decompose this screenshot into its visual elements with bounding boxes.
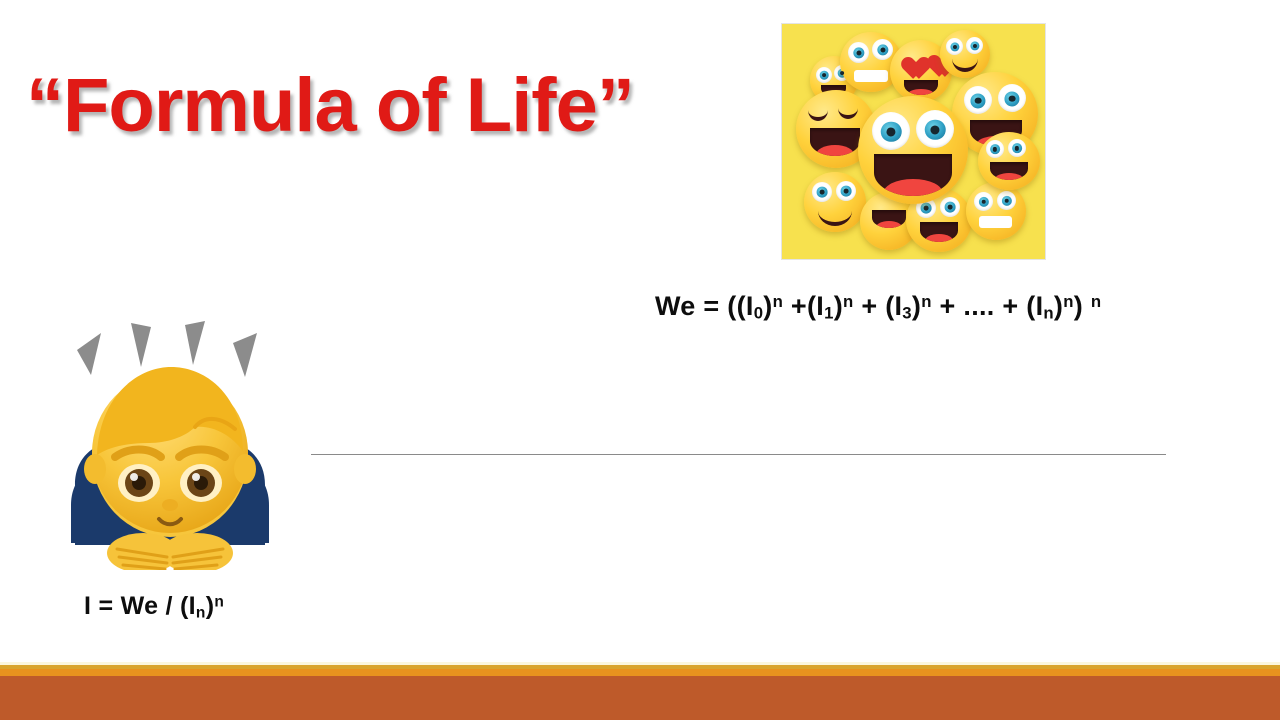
closed-eye-icon bbox=[838, 106, 858, 119]
eye-icon bbox=[812, 182, 832, 202]
eye-icon bbox=[872, 112, 910, 150]
subscript-0: 0 bbox=[754, 304, 764, 323]
formula-we-lhs: We bbox=[655, 291, 696, 321]
term-plus-3: + (I bbox=[854, 291, 903, 321]
superscript-n: n bbox=[214, 594, 224, 611]
heart-eye-icon bbox=[896, 48, 922, 72]
emoji-face bbox=[966, 182, 1026, 240]
eye-icon bbox=[974, 192, 993, 211]
smile-icon bbox=[952, 56, 978, 72]
emoji-face-main bbox=[858, 96, 968, 204]
formula-we: We = ((I0)n +(I1)n + (I3)n + .... + (In)… bbox=[655, 291, 1101, 324]
person-bowing-emoji bbox=[45, 305, 295, 570]
bottom-decoration-bars bbox=[0, 662, 1280, 720]
teeth-icon bbox=[854, 70, 888, 82]
superscript-n: n bbox=[1063, 292, 1074, 311]
subscript-n: n bbox=[196, 604, 206, 621]
mouth-icon bbox=[904, 80, 938, 95]
paren-close: ) bbox=[763, 291, 772, 321]
eye-icon bbox=[946, 38, 963, 55]
mouth-icon bbox=[990, 162, 1028, 180]
term-ellipsis: + .... + (I bbox=[932, 291, 1044, 321]
eye-icon bbox=[986, 140, 1004, 158]
eye-icon bbox=[816, 67, 832, 83]
eye-icon bbox=[872, 39, 893, 60]
eye-icon bbox=[997, 191, 1016, 210]
eye-icon bbox=[998, 84, 1026, 112]
paren-close: ) bbox=[912, 291, 921, 321]
closed-eye-icon bbox=[808, 108, 828, 121]
subscript-n: n bbox=[1043, 304, 1054, 323]
orange-bar bbox=[0, 669, 1280, 676]
mouth-icon bbox=[874, 154, 952, 196]
mouth-icon bbox=[872, 210, 906, 228]
eye-icon bbox=[836, 181, 856, 201]
superscript-n: n bbox=[843, 292, 854, 311]
superscript-n-outer: n bbox=[1091, 292, 1102, 311]
horizontal-divider bbox=[311, 454, 1166, 455]
eye-icon bbox=[966, 37, 983, 54]
page-title: “Formula of Life” bbox=[26, 62, 634, 149]
subscript-1: 1 bbox=[824, 304, 834, 323]
mouth-icon bbox=[920, 222, 958, 242]
eye-icon bbox=[1008, 139, 1026, 157]
eye-icon bbox=[916, 110, 954, 148]
emoji-face bbox=[940, 30, 990, 78]
smile-icon bbox=[818, 208, 852, 226]
formula-i-lhs: I = We / (I bbox=[84, 592, 196, 620]
formula-i: I = We / (In)n bbox=[84, 592, 224, 622]
paren-close-outer: ) bbox=[1074, 291, 1091, 321]
emoji-collage-image bbox=[781, 23, 1046, 260]
presentation-slide: “Formula of Life” bbox=[0, 0, 1280, 720]
brown-bar bbox=[0, 676, 1280, 720]
paren-close: ) bbox=[834, 291, 843, 321]
superscript-n: n bbox=[921, 292, 932, 311]
mouth-icon bbox=[810, 128, 860, 156]
eye-icon bbox=[964, 86, 992, 114]
emoji-face bbox=[978, 132, 1040, 190]
term-open: ((I bbox=[727, 291, 753, 321]
teeth-icon bbox=[979, 216, 1012, 228]
eye-icon bbox=[848, 42, 869, 63]
emoji-face bbox=[804, 172, 866, 232]
superscript-n: n bbox=[773, 292, 784, 311]
eye-icon bbox=[940, 197, 960, 217]
paren-close: ) bbox=[1054, 291, 1063, 321]
subscript-3: 3 bbox=[902, 304, 912, 323]
term-plus-1: +(I bbox=[783, 291, 824, 321]
equals-sign: = bbox=[696, 291, 728, 321]
